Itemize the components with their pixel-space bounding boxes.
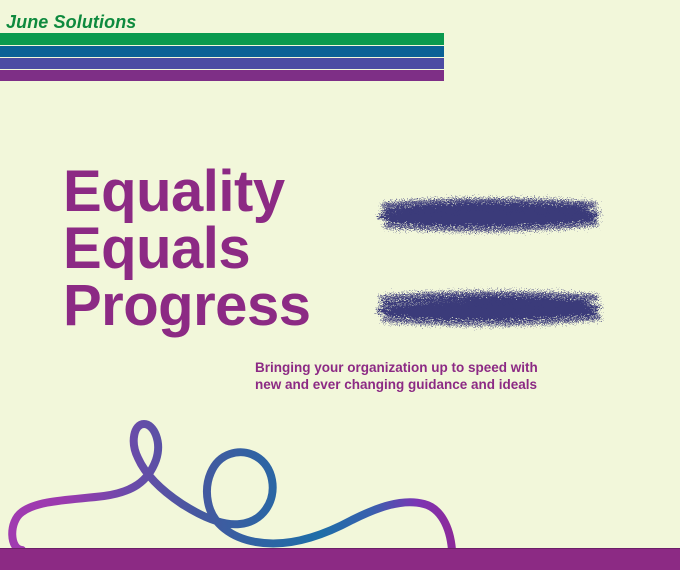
brush-stroke-lower-icon <box>372 286 604 332</box>
headline-line-1: Equality <box>63 164 383 221</box>
subtitle-line-1: Bringing your organization up to speed w… <box>255 360 615 377</box>
poster-canvas: June Solutions Equality Equals Progress … <box>0 0 680 570</box>
brand-name: June Solutions <box>6 12 136 33</box>
subtitle: Bringing your organization up to speed w… <box>255 360 615 394</box>
bottom-bar <box>0 548 680 570</box>
decorative-swirl-icon <box>0 400 680 560</box>
stripe-band-green <box>0 33 444 45</box>
brush-stroke-upper-icon <box>372 194 604 240</box>
stripe-bar <box>0 33 444 81</box>
stripe-band-blue <box>0 46 444 57</box>
bottom-bar-hairline <box>0 548 680 549</box>
subtitle-line-2: new and ever changing guidance and ideal… <box>255 377 615 394</box>
headline-line-2: Equals <box>63 221 383 278</box>
stripe-band-purple <box>0 70 444 81</box>
page-title: Equality Equals Progress <box>63 164 383 334</box>
stripe-band-indigo <box>0 58 444 69</box>
headline-line-3: Progress <box>63 278 383 335</box>
